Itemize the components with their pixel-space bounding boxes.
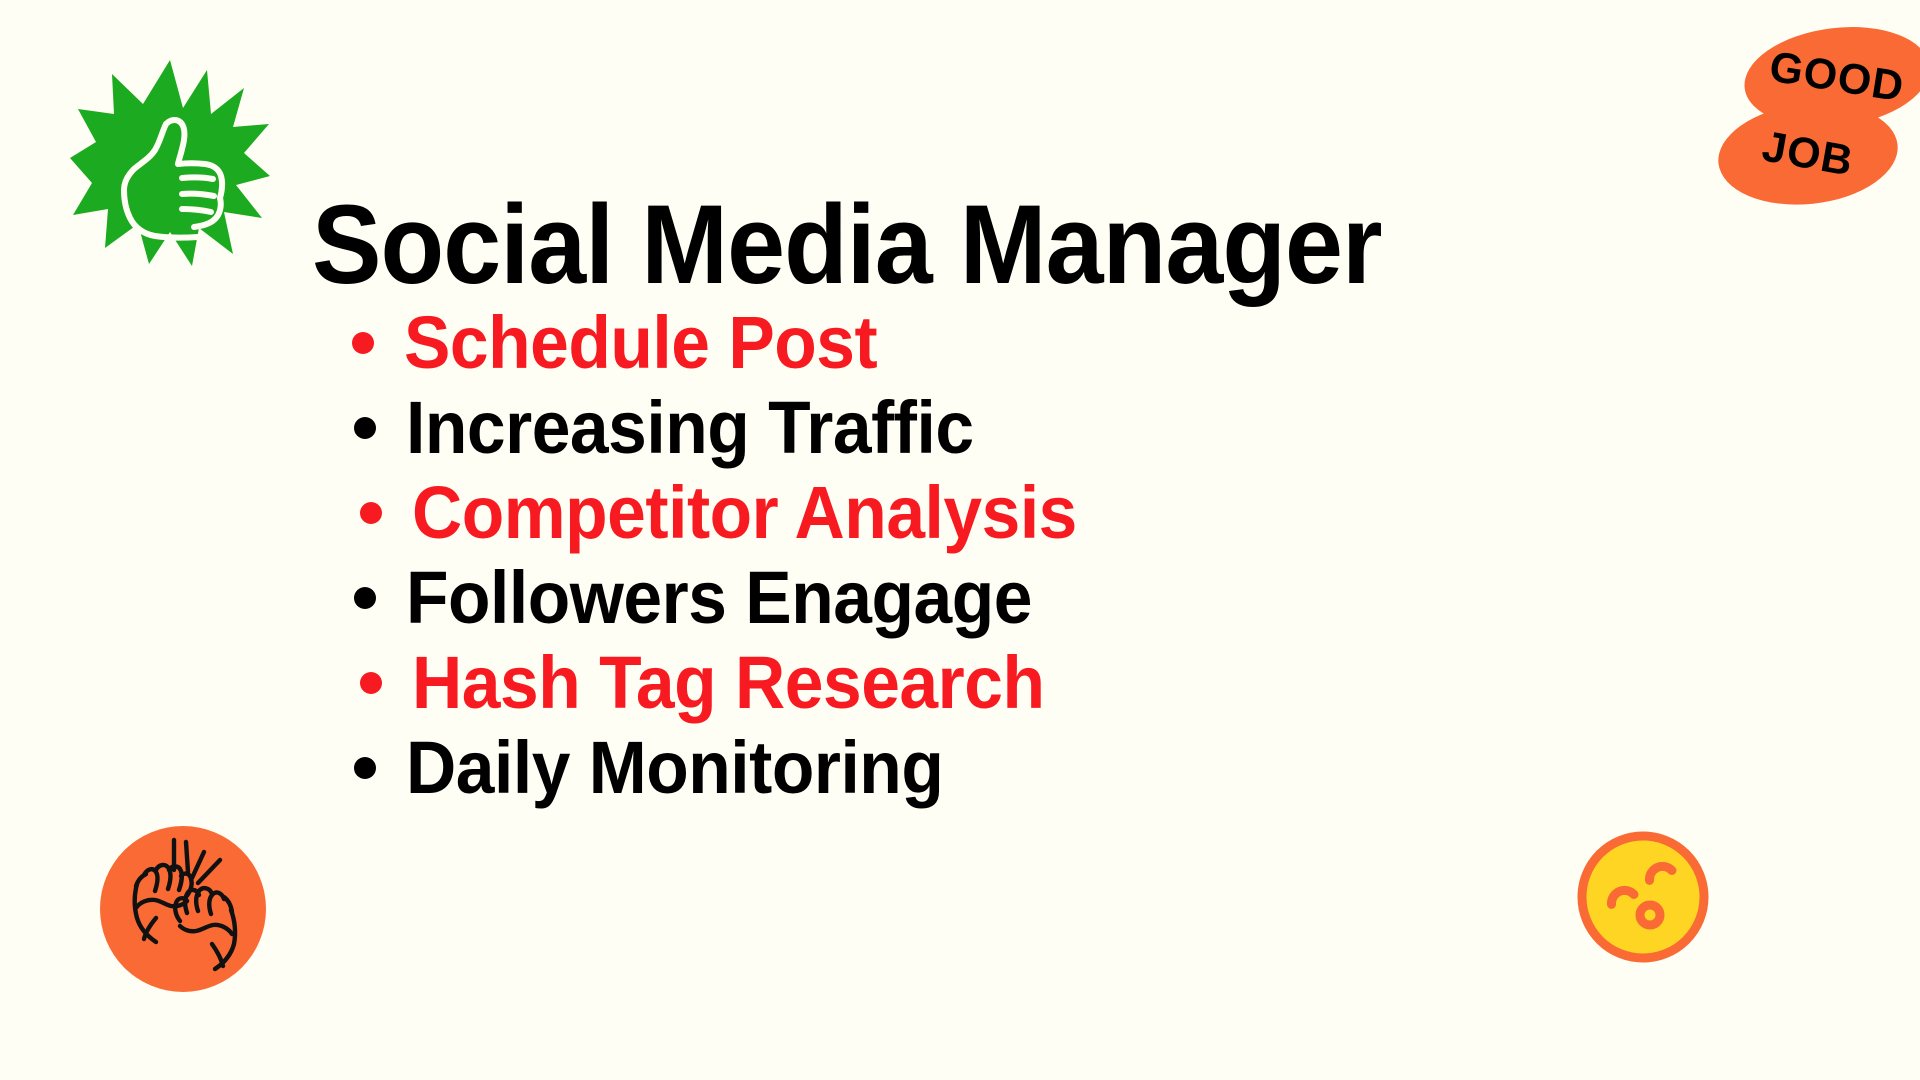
clapping-hands-icon xyxy=(100,826,266,992)
list-item[interactable]: Competitor Analysis xyxy=(340,470,1440,555)
thumbs-up-starburst-icon xyxy=(70,52,270,267)
bullet-dot-icon xyxy=(354,587,376,609)
bullet-dot-icon xyxy=(354,757,376,779)
list-item[interactable]: Increasing Traffic xyxy=(340,385,1440,470)
smiley-face-circle xyxy=(1582,836,1704,958)
list-item[interactable]: Daily Monitoring xyxy=(340,725,1440,810)
list-item-label: Daily Monitoring xyxy=(406,731,943,805)
good-job-sticker: GOOD JOB xyxy=(1718,22,1920,222)
list-item-label: Increasing Traffic xyxy=(406,391,974,465)
list-item[interactable]: Hash Tag Research xyxy=(340,640,1440,725)
list-item[interactable]: Schedule Post xyxy=(340,300,1440,385)
bullet-dot-icon xyxy=(360,672,382,694)
bullet-dot-icon xyxy=(360,502,382,524)
good-label: GOOD xyxy=(1766,42,1907,112)
list-item[interactable]: Followers Enagage xyxy=(340,555,1440,640)
list-item-label: Hash Tag Research xyxy=(412,646,1044,720)
job-label: JOB xyxy=(1759,122,1858,186)
service-list: Schedule Post Increasing Traffic Competi… xyxy=(340,300,1440,810)
bullet-dot-icon xyxy=(352,332,374,354)
slide-canvas: Social Media Manager Schedule Post Incre… xyxy=(0,0,1920,1080)
list-item-label: Followers Enagage xyxy=(406,561,1032,635)
page-title: Social Media Manager xyxy=(312,179,1382,311)
list-item-label: Schedule Post xyxy=(404,306,877,380)
whistling-face-icon xyxy=(1576,830,1710,964)
list-item-label: Competitor Analysis xyxy=(412,476,1077,550)
clap-circle-background xyxy=(100,826,266,992)
bullet-dot-icon xyxy=(354,417,376,439)
